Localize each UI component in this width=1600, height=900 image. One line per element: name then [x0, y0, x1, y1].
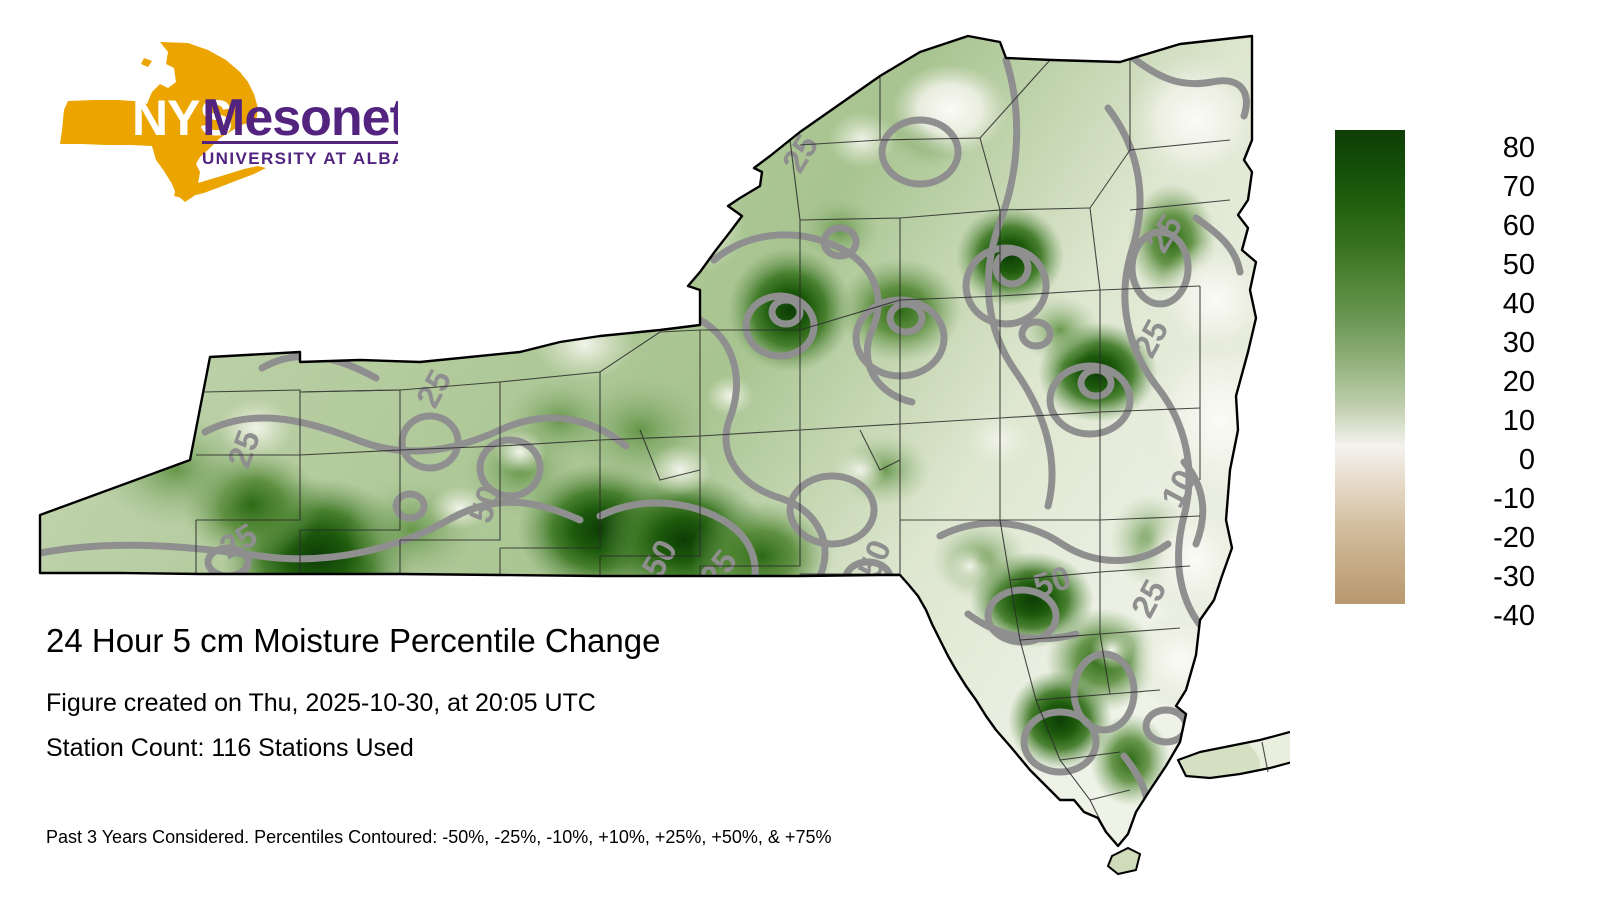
caption-block: 24 Hour 5 cm Moisture Percentile Change … — [46, 620, 1146, 764]
staten-island-outline — [1108, 848, 1140, 874]
new-york-choropleth-map: 25 25 25 50 50 25 25 25 25 25 50 50 10 2… — [0, 0, 1290, 900]
figure-root: NYS Mesonet UNIVERSITY AT ALBANY — [0, 0, 1600, 900]
colorbar-tick: -10 — [1413, 485, 1535, 514]
colorbar-tick: -30 — [1413, 563, 1535, 592]
field-hotspot — [1020, 296, 1100, 364]
colorbar-tick: 10 — [1413, 407, 1535, 436]
state-fill-layer: 25 25 25 50 50 25 25 25 25 25 50 50 10 2… — [0, 0, 1290, 900]
colorbar-tick: 40 — [1413, 290, 1535, 319]
station-count-text: Station Count: 116 Stations Used — [46, 733, 1146, 764]
map-panel: 25 25 25 50 50 25 25 25 25 25 50 50 10 2… — [0, 0, 1290, 900]
colorbar: 80 70 60 50 40 30 20 10 0 -10 -20 -30 -4… — [1335, 130, 1575, 610]
colorbar-tick: 70 — [1413, 173, 1535, 202]
field-coolspot — [1132, 610, 1228, 710]
contour-label: 25 — [573, 244, 622, 293]
colorbar-tick: 50 — [1413, 251, 1535, 280]
field-coolspot — [648, 444, 712, 496]
colorbar-tick: 30 — [1413, 329, 1535, 358]
colorbar-gradient — [1335, 130, 1405, 604]
footnote-text: Past 3 Years Considered. Percentiles Con… — [46, 826, 831, 848]
colorbar-tick: -20 — [1413, 524, 1535, 553]
colorbar-tick: 60 — [1413, 212, 1535, 241]
page-title: 24 Hour 5 cm Moisture Percentile Change — [46, 620, 1146, 662]
colorbar-tick: 20 — [1413, 368, 1535, 397]
colorbar-tick: -40 — [1413, 602, 1535, 631]
colorbar-tick: 80 — [1413, 134, 1535, 163]
field-coolspot — [1126, 54, 1266, 186]
colorbar-tick: 0 — [1413, 446, 1535, 475]
field-coolspot — [892, 64, 1008, 156]
colorbar-tick-labels: 80 70 60 50 40 30 20 10 0 -10 -20 -30 -4… — [1413, 130, 1563, 604]
figure-created-text: Figure created on Thu, 2025-10-30, at 20… — [46, 688, 1146, 719]
field-coolspot — [948, 546, 992, 586]
